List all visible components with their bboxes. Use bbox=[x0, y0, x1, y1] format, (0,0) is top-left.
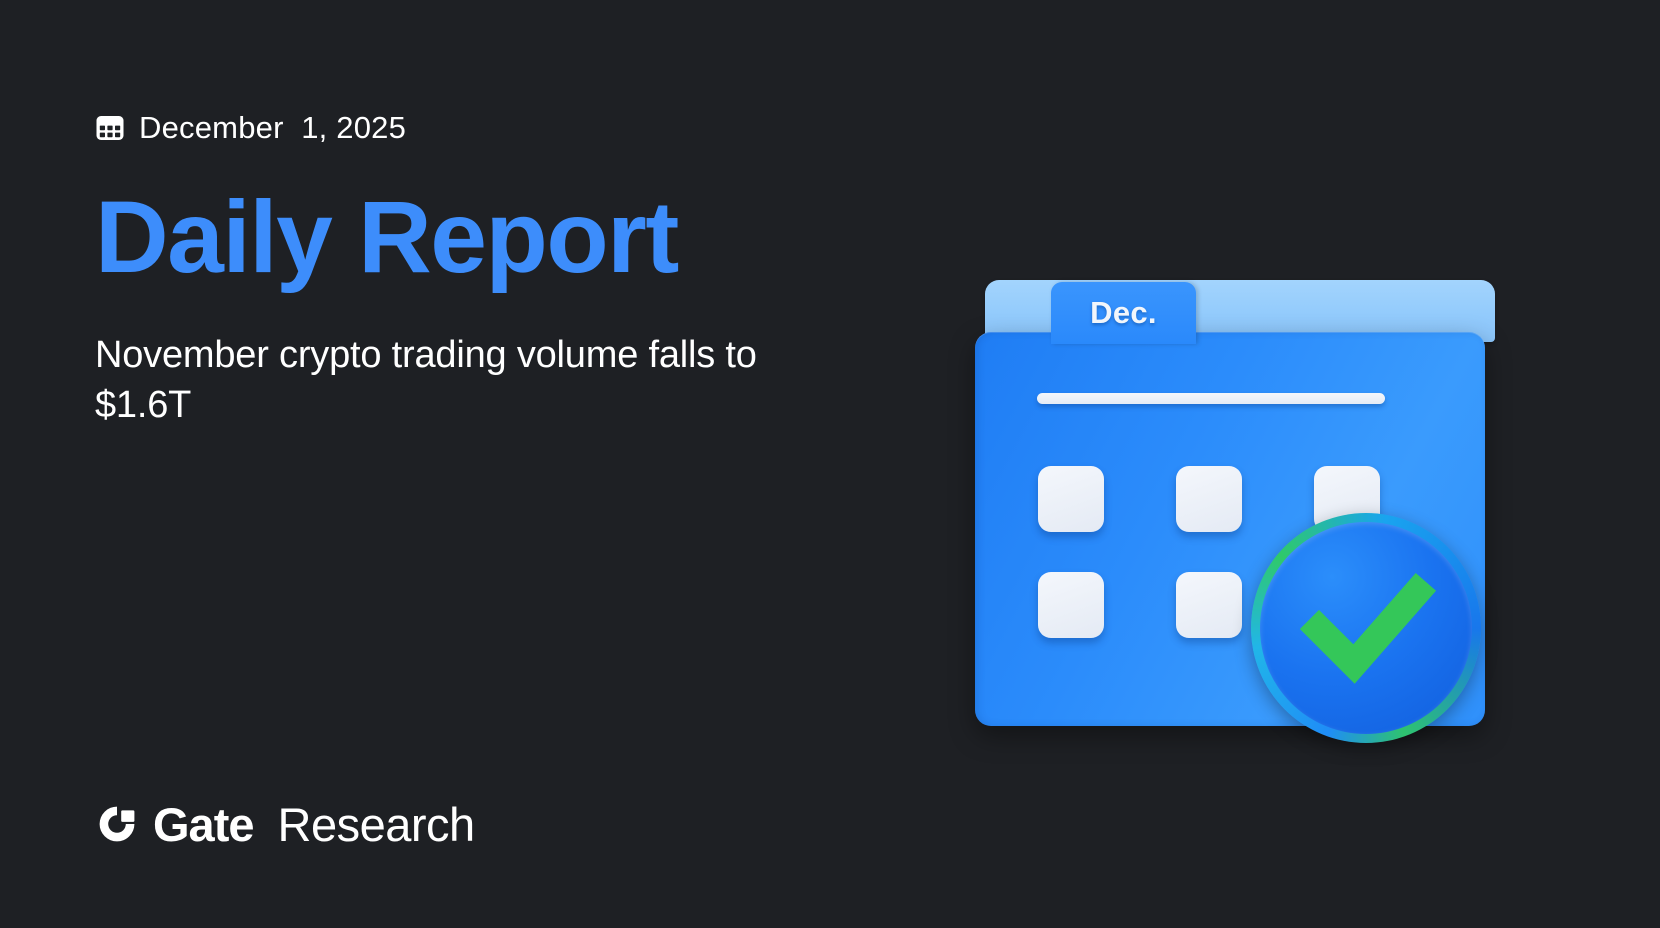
page-title: Daily Report bbox=[95, 186, 835, 288]
calendar-day-tile bbox=[1038, 466, 1104, 532]
date-row: December 1, 2025 bbox=[95, 108, 835, 148]
check-icon bbox=[1251, 513, 1481, 743]
daily-report-poster: December 1, 2025 Daily Report November c… bbox=[0, 0, 1660, 928]
calendar-month-label: Dec. bbox=[1090, 295, 1157, 331]
calendar-day-tile bbox=[1176, 466, 1242, 532]
calendar-icon bbox=[95, 113, 125, 143]
report-date: December 1, 2025 bbox=[139, 110, 406, 146]
calendar-day-tile bbox=[1038, 572, 1104, 638]
brand-logo: Gate Research bbox=[95, 798, 475, 850]
check-badge bbox=[1251, 513, 1481, 743]
calendar-month-tab: Dec. bbox=[1051, 282, 1196, 344]
calendar-3d-illustration: Dec. bbox=[975, 280, 1495, 730]
text-column: December 1, 2025 Daily Report November c… bbox=[95, 108, 835, 430]
product-name: Research bbox=[278, 801, 475, 848]
page-subtitle: November crypto trading volume falls to … bbox=[95, 330, 775, 430]
brand-name: Gate bbox=[153, 801, 254, 848]
calendar-divider-line bbox=[1037, 393, 1385, 404]
calendar-day-tile bbox=[1176, 572, 1242, 638]
gate-g-logo-icon bbox=[95, 802, 139, 846]
